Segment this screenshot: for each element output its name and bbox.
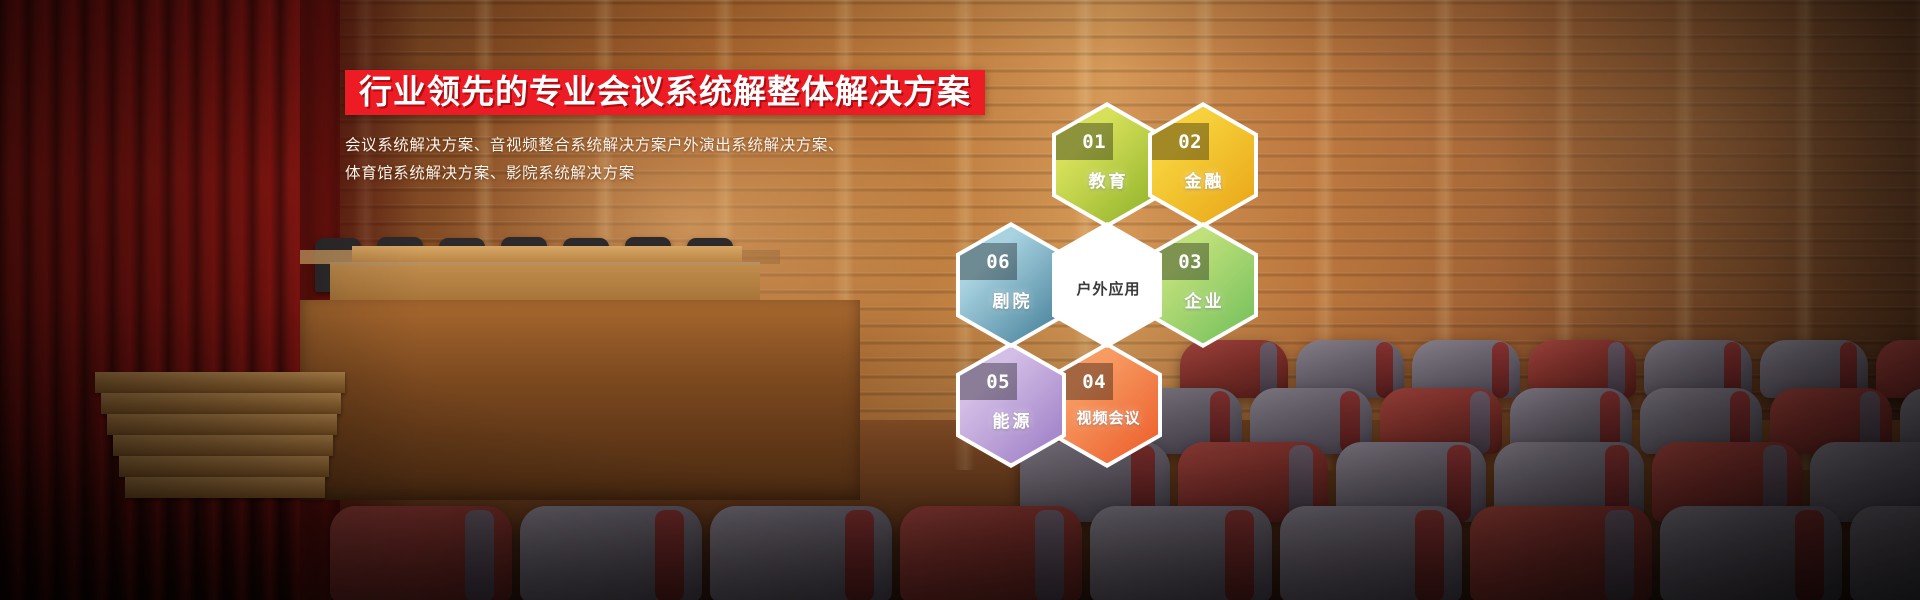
hexagon-number-badge: 05 (960, 363, 1017, 400)
hexagon-06-item5[interactable]: 06剧院 (956, 222, 1066, 348)
hexagon-label: 能源 (960, 407, 1062, 432)
hexagon-label: 金融 (1152, 167, 1254, 192)
hexagon-number: 03 (1178, 251, 1202, 273)
hexagon-label: 视频会议 (1056, 407, 1158, 428)
hexagon-number-badge: 02 (1152, 123, 1209, 160)
hexagon-04-item3[interactable]: 04视频会议 (1052, 342, 1162, 468)
hexagon-face: 05能源 (960, 347, 1062, 464)
hexagon-02-item1[interactable]: 02金融 (1148, 102, 1258, 228)
hexagon-number: 02 (1178, 131, 1202, 153)
hexagon-face: 06剧院 (960, 227, 1062, 344)
hexagon-cluster: 01教育02金融03企业04视频会议05能源06剧院户外应用 (836, 96, 1256, 476)
hexagon-label: 企业 (1152, 287, 1254, 312)
hexagon-number: 06 (986, 251, 1010, 273)
hexagon-number: 04 (1082, 371, 1106, 393)
hexagon-03-item2[interactable]: 03企业 (1148, 222, 1258, 348)
hero-banner: 行业领先的专业会议系统解整体解决方案 会议系统解决方案、音视频整合系统解决方案户… (0, 0, 1920, 600)
hexagon-number-badge: 06 (960, 243, 1017, 280)
hexagon-number: 05 (986, 371, 1010, 393)
hexagon-border: 01教育 (1052, 102, 1162, 228)
hexagon-center-outdoor[interactable]: 户外应用 (1052, 222, 1162, 348)
hexagon-05-item4[interactable]: 05能源 (956, 342, 1066, 468)
hexagon-01-item0[interactable]: 01教育 (1052, 102, 1162, 228)
hexagon-face: 03企业 (1152, 227, 1254, 344)
hexagon-face: 01教育 (1056, 107, 1158, 224)
hexagon-border: 05能源 (956, 342, 1066, 468)
hexagon-border: 02金融 (1148, 102, 1258, 228)
hexagon-number-badge: 01 (1056, 123, 1113, 160)
hexagon-face: 02金融 (1152, 107, 1254, 224)
hexagon-border: 06剧院 (956, 222, 1066, 348)
hexagon-number: 01 (1082, 131, 1106, 153)
hexagon-center-label: 户外应用 (1056, 278, 1158, 299)
hexagon-label: 剧院 (960, 287, 1062, 312)
hexagon-label: 教育 (1056, 167, 1158, 192)
hexagon-border: 户外应用 (1052, 222, 1162, 348)
hexagon-face: 04视频会议 (1056, 347, 1158, 464)
hexagon-border: 03企业 (1148, 222, 1258, 348)
hexagon-border: 04视频会议 (1052, 342, 1162, 468)
hexagon-face: 户外应用 (1056, 227, 1158, 344)
